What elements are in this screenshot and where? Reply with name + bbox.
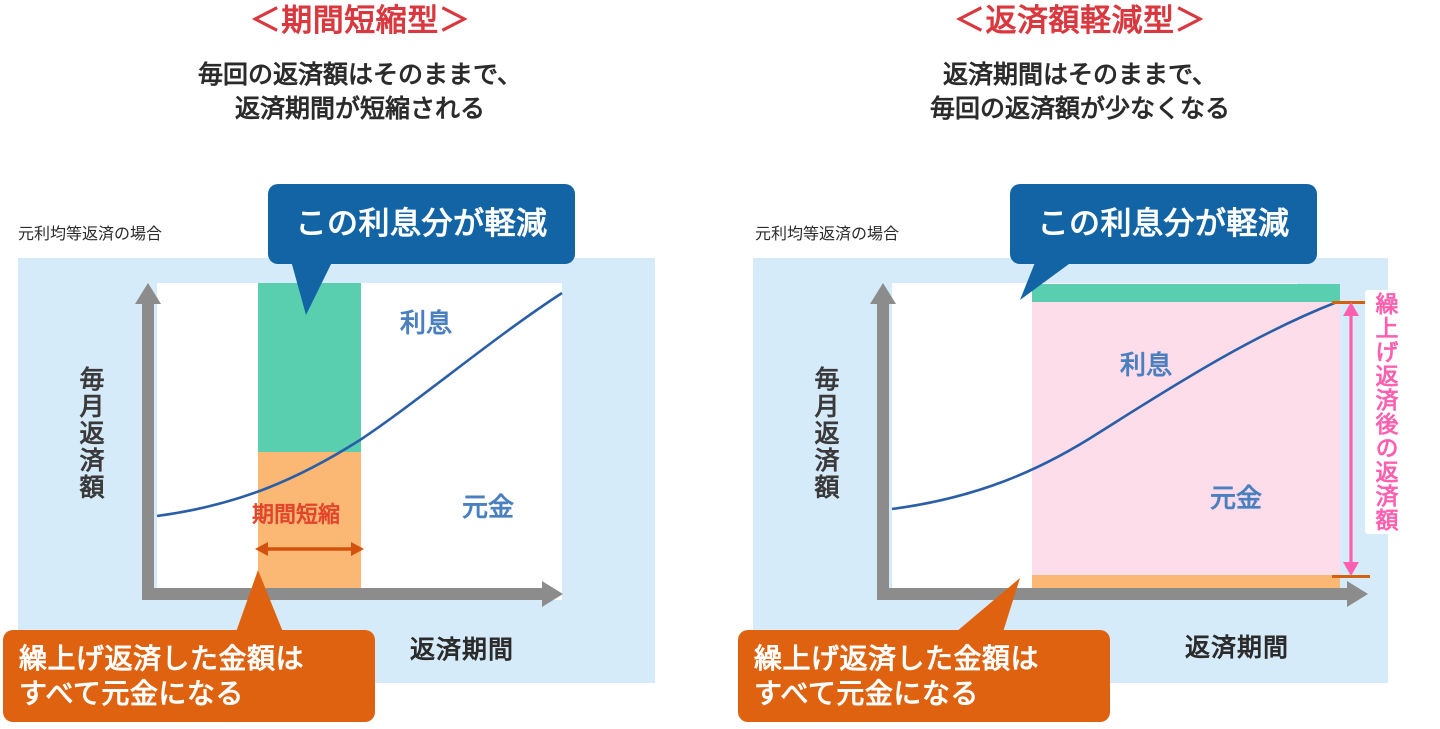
callout-interest-saved-right: この利息分が軽減 bbox=[1010, 184, 1317, 264]
reduced-payment-vertical-label: 繰上げ返済後の返済額 bbox=[1365, 290, 1403, 534]
chart-note-right: 元利均等返済の場合 bbox=[755, 220, 899, 244]
y-axis-left bbox=[142, 303, 154, 600]
panel-title-term-reduction: ＜期間短縮型＞ bbox=[0, 4, 720, 40]
callout-orange-line2-right: すべて元金になる bbox=[754, 676, 1039, 711]
panel-subtitle-payment-reduction: 返済期間はそのままで、 毎回の返済額が少なくなる bbox=[720, 58, 1440, 126]
x-axis-right bbox=[877, 588, 1347, 600]
series-label-principal-left: 元金 bbox=[462, 487, 514, 524]
x-axis-label-left: 返済期間 bbox=[410, 630, 514, 666]
x-axis-label-right: 返済期間 bbox=[1185, 628, 1289, 664]
series-label-interest-right: 利息 bbox=[1120, 345, 1172, 382]
callout-interest-saved-left: この利息分が軽減 bbox=[268, 184, 575, 264]
y-axis-arrowhead-icon-left bbox=[135, 283, 161, 304]
series-label-principal-right: 元金 bbox=[1210, 478, 1262, 515]
panel-term-reduction: ＜期間短縮型＞ 毎回の返済額はそのままで、 返済期間が短縮される 元利均等返済の… bbox=[0, 0, 720, 729]
y-axis-label-right: 毎月返済額 bbox=[807, 366, 843, 501]
callout-orange-line1-right: 繰上げ返済した金額は bbox=[754, 641, 1039, 676]
y-axis-arrowhead-icon-right bbox=[870, 283, 896, 304]
panel-payment-reduction: ＜返済額軽減型＞ 返済期間はそのままで、 毎回の返済額が少なくなる 元利均等返済… bbox=[720, 0, 1440, 729]
region-interest-saved-right bbox=[1032, 284, 1340, 302]
shrink-period-label: 期間短縮 bbox=[252, 497, 340, 529]
x-axis-arrowhead-icon-left bbox=[542, 581, 563, 607]
panel-title-payment-reduction: ＜返済額軽減型＞ bbox=[720, 4, 1440, 40]
region-reduced-payment-right bbox=[1032, 302, 1340, 575]
callout-orange-line2-left: すべて元金になる bbox=[19, 676, 304, 711]
callout-orange-line1-left: 繰上げ返済した金額は bbox=[19, 641, 304, 676]
x-axis-left bbox=[142, 588, 542, 600]
measure-tick-bottom-right bbox=[1332, 575, 1370, 578]
y-axis-right bbox=[877, 303, 889, 593]
panel-subtitle-line1: 毎回の返済額はそのままで、 bbox=[0, 58, 720, 92]
panel-subtitle-line2-right: 毎回の返済額が少なくなる bbox=[720, 92, 1440, 126]
callout-prepaid-principal-right: 繰上げ返済した金額は すべて元金になる bbox=[738, 630, 1110, 722]
panel-subtitle-line1-right: 返済期間はそのままで、 bbox=[720, 58, 1440, 92]
x-axis-arrowhead-icon-right bbox=[1347, 581, 1368, 607]
y-axis-label-left: 毎月返済額 bbox=[72, 366, 108, 501]
callout-prepaid-principal-left: 繰上げ返済した金額は すべて元金になる bbox=[3, 630, 375, 722]
chart-note-left: 元利均等返済の場合 bbox=[18, 220, 162, 244]
series-label-interest-left: 利息 bbox=[400, 303, 452, 340]
panel-subtitle-line2: 返済期間が短縮される bbox=[0, 92, 720, 126]
panel-subtitle-term-reduction: 毎回の返済額はそのままで、 返済期間が短縮される bbox=[0, 58, 720, 126]
